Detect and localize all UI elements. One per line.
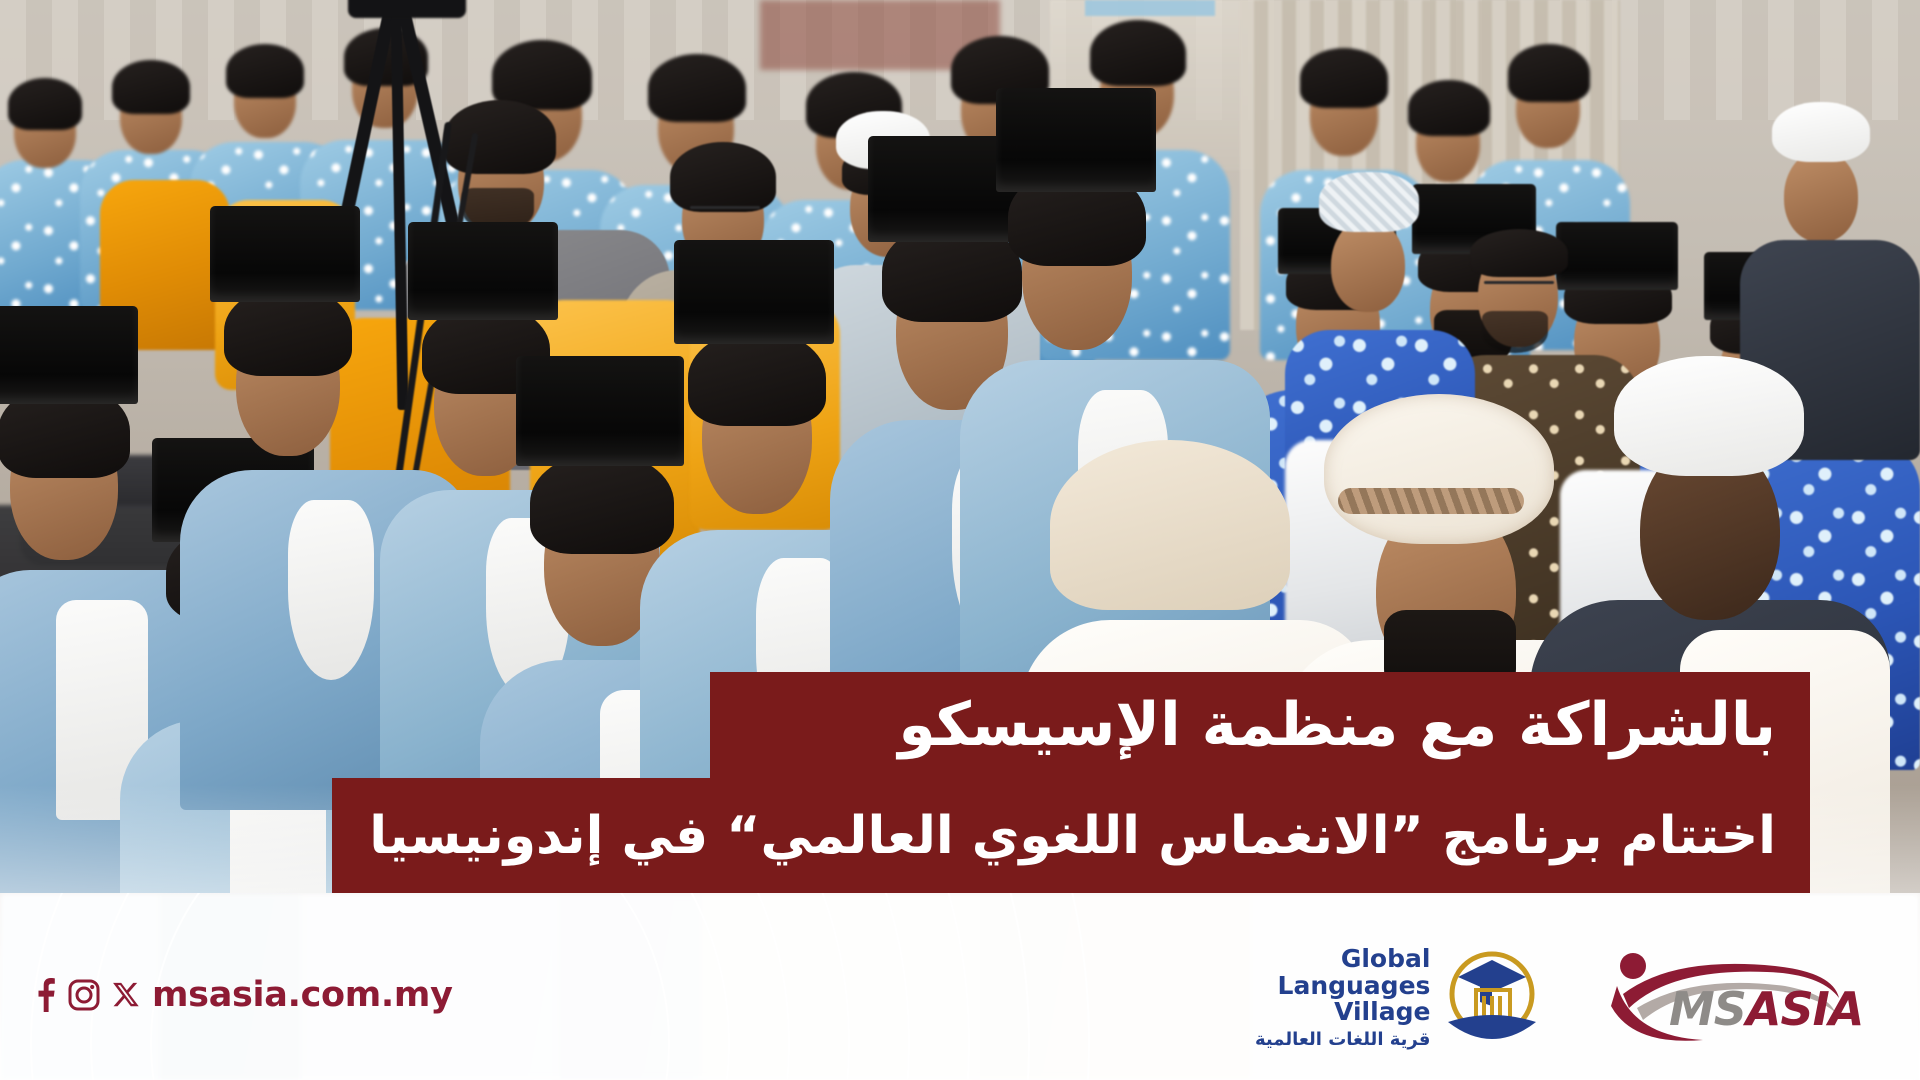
glv-wordmark: Global Languages Village قرية اللغات الع… (1255, 946, 1430, 1050)
headline-line-2: اختتام برنامج ”الانغماس اللغوي العالمي“ … (369, 810, 1776, 862)
glv-emblem (1440, 944, 1544, 1052)
headline-banner-top: بالشراكة مع منظمة الإسيسكو (710, 672, 1810, 778)
glv-arabic: قرية اللغات العالمية (1255, 1029, 1430, 1050)
msasia-part-2: ASIA (1746, 982, 1863, 1036)
peci-cap-icon (996, 88, 1156, 192)
peci-cap-icon (0, 306, 138, 404)
msasia-part-1: MS (1669, 982, 1746, 1036)
glv-line-2: Languages (1255, 973, 1430, 1000)
facebook-icon[interactable] (34, 978, 56, 1012)
headline-banner-bottom: اختتام برنامج ”الانغماس اللغوي العالمي“ … (332, 778, 1810, 894)
glv-line-3: Village (1255, 999, 1430, 1026)
kopiah-icon (1772, 102, 1870, 162)
kopiah-icon (1614, 356, 1804, 476)
msasia-wordmark: MSASIA (1669, 982, 1863, 1036)
glv-logo: Global Languages Village قرية اللغات الع… (1255, 944, 1544, 1052)
website-url[interactable]: msasia.com.my (152, 975, 453, 1015)
glv-line-1: Global (1255, 946, 1430, 973)
headline-line-1: بالشراكة مع منظمة الإسيسكو (898, 695, 1776, 755)
social-row: msasia.com.my (34, 975, 453, 1015)
instagram-icon[interactable] (68, 979, 100, 1011)
peci-cap-icon (210, 206, 360, 302)
kufi-cap-icon (1319, 172, 1419, 232)
poster-canvas: بالشراكة مع منظمة الإسيسكو اختتام برنامج… (0, 0, 1920, 1080)
cap-icon (1050, 440, 1290, 610)
peci-cap-icon (674, 240, 834, 344)
peci-cap-icon (408, 222, 558, 320)
x-icon[interactable] (112, 981, 140, 1009)
msasia-logo: MSASIA (1607, 950, 1842, 1054)
turban-icon (1324, 394, 1554, 544)
